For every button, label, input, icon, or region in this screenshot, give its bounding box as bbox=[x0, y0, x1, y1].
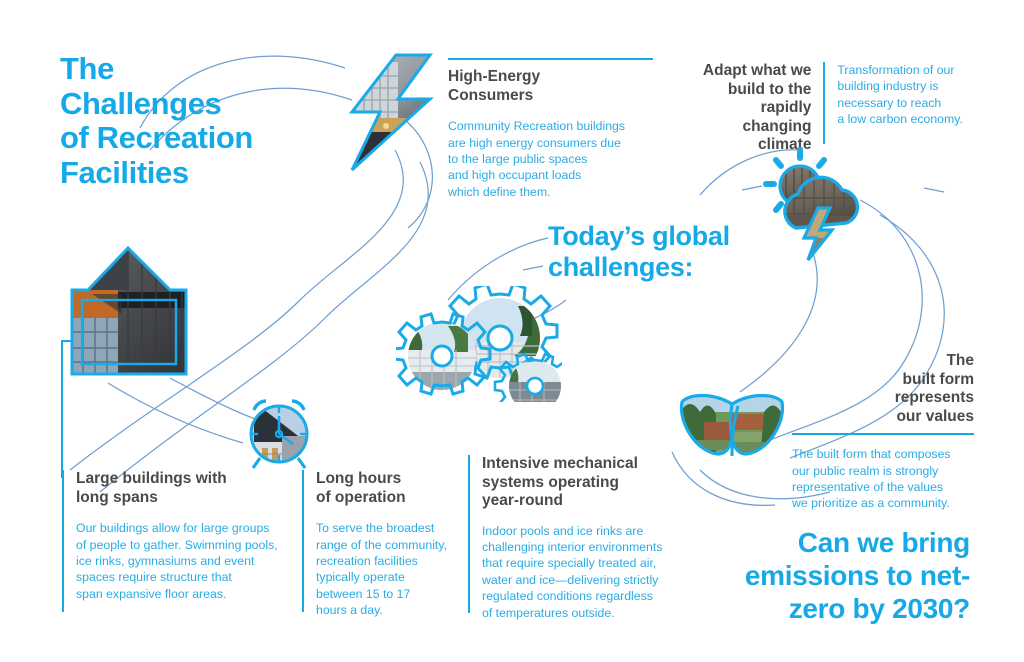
card-long-hours: Long hours of operation To serve the bro… bbox=[302, 470, 472, 612]
card-heading: Intensive mechanical systems operating y… bbox=[482, 455, 683, 511]
infographic-canvas: The Challenges of Recreation Facilities … bbox=[0, 0, 1024, 662]
cta-net-zero: Can we bring emissions to net- zero by 2… bbox=[700, 527, 970, 625]
card-large-buildings: Large buildings with long spans Our buil… bbox=[62, 470, 307, 612]
card-heading: Long hours of operation bbox=[316, 470, 472, 507]
page-title: The Challenges of Recreation Facilities bbox=[60, 52, 360, 191]
building-photo-icon bbox=[62, 244, 194, 380]
lightning-bolt-icon bbox=[338, 52, 442, 174]
card-intensive-mechanical: Intensive mechanical systems operating y… bbox=[468, 455, 683, 613]
card-body: Transformation of our building industry … bbox=[825, 62, 983, 144]
leaf-sprout-icon bbox=[676, 382, 788, 460]
card-heading: Adapt what we build to the rapidly chang… bbox=[693, 62, 823, 144]
card-body: Our buildings allow for large groups of … bbox=[76, 507, 307, 602]
card-built-form-values: The built form represents our values The… bbox=[792, 352, 974, 512]
gears-icon bbox=[396, 286, 562, 402]
card-body: To serve the broadest range of the commu… bbox=[316, 507, 472, 618]
card-high-energy-consumers: High-Energy Consumers Community Recreati… bbox=[448, 58, 653, 200]
card-body: The built form that composes our public … bbox=[792, 435, 974, 511]
card-body: Community Recreation buildings are high … bbox=[448, 105, 653, 200]
card-adapt-climate: Adapt what we build to the rapidly chang… bbox=[693, 62, 983, 144]
card-heading: Large buildings with long spans bbox=[76, 470, 307, 507]
storm-cloud-icon bbox=[756, 142, 868, 264]
card-heading: The built form represents our values bbox=[792, 352, 974, 426]
card-body: Indoor pools and ice rinks are challengi… bbox=[482, 511, 683, 621]
alarm-clock-icon bbox=[236, 392, 322, 472]
card-heading: High-Energy Consumers bbox=[448, 60, 653, 105]
